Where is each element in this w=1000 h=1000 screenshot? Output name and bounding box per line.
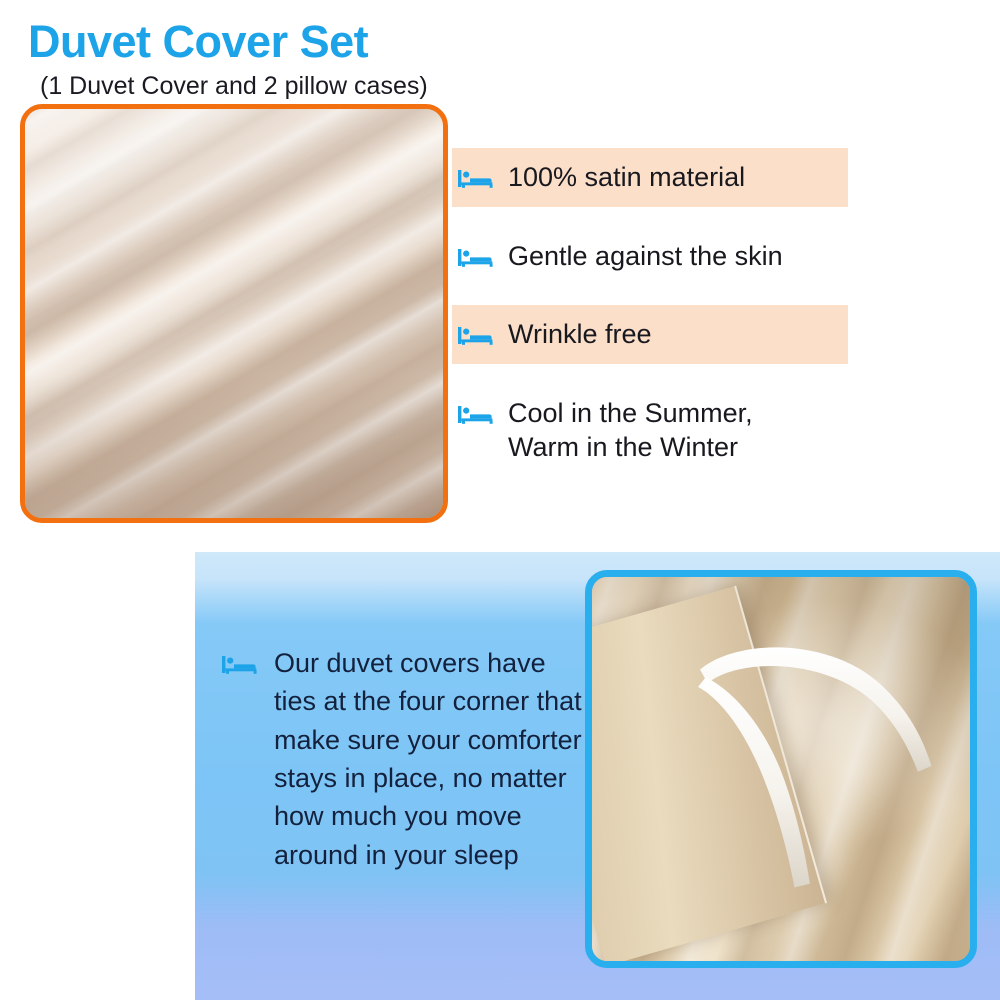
feature-label: Wrinkle free <box>508 317 652 352</box>
infographic-page: Duvet Cover Set (1 Duvet Cover and 2 pil… <box>0 0 1000 1000</box>
spacer <box>452 285 848 305</box>
feature-label: Gentle against the skin <box>508 239 783 274</box>
spacer <box>452 364 848 384</box>
page-title: Duvet Cover Set <box>28 16 368 68</box>
feature-label: Cool in the Summer, Warm in the Winter <box>508 396 753 465</box>
bed-icon <box>222 652 260 676</box>
feature-list: 100% satin material Gentle against the s… <box>452 148 848 477</box>
feature-label: 100% satin material <box>508 160 745 195</box>
feature-item-cool-warm: Cool in the Summer, Warm in the Winter <box>452 384 848 477</box>
satin-fabric-photo <box>20 104 448 523</box>
feature-item-satin-material: 100% satin material <box>452 148 848 207</box>
tie-description-block: Our duvet covers have ties at the four c… <box>222 644 592 874</box>
tie-description-text: Our duvet covers have ties at the four c… <box>274 644 592 874</box>
white-ribbon-ties <box>592 577 970 961</box>
satin-fabric-texture <box>25 109 443 518</box>
duvet-ties-photo <box>585 570 977 968</box>
feature-item-gentle-skin: Gentle against the skin <box>452 227 848 286</box>
bed-icon <box>458 166 496 190</box>
bed-icon <box>458 402 496 426</box>
page-subtitle: (1 Duvet Cover and 2 pillow cases) <box>40 72 428 101</box>
bed-icon <box>458 245 496 269</box>
bed-icon <box>458 323 496 347</box>
spacer <box>452 207 848 227</box>
feature-item-wrinkle-free: Wrinkle free <box>452 305 848 364</box>
